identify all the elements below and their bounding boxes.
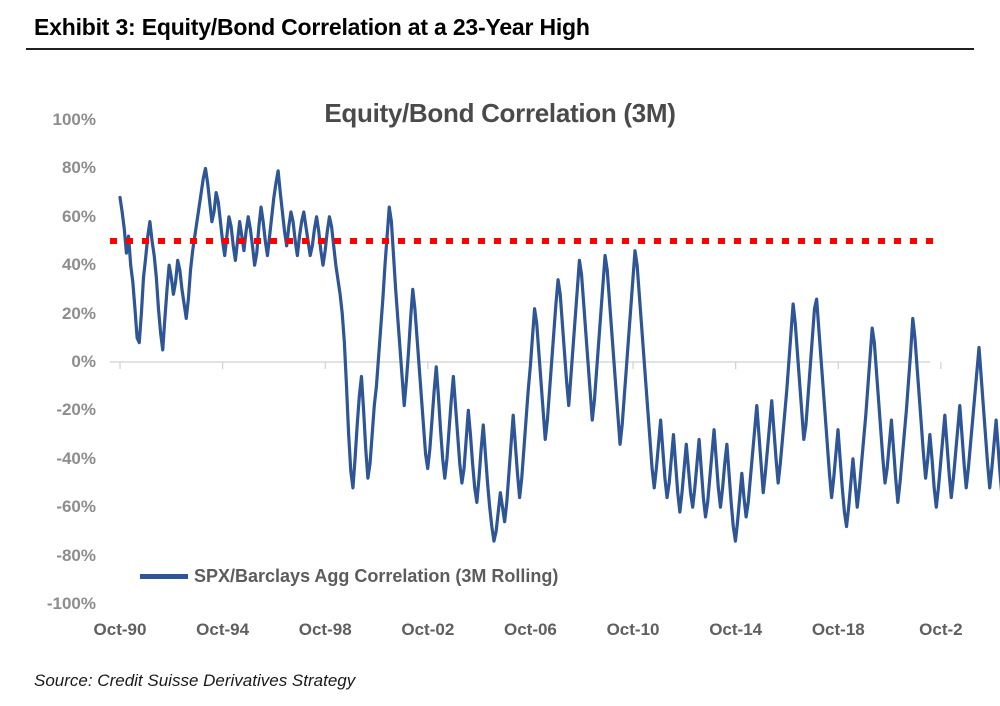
legend-label-spx: SPX/Barclays Agg Correlation (3M Rolling… (194, 566, 558, 587)
chart-legend: SPX/Barclays Agg Correlation (3M Rolling… (140, 566, 558, 587)
exhibit-title: Exhibit 3: Equity/Bond Correlation at a … (34, 14, 590, 41)
legend-swatch-spx (140, 574, 188, 579)
chart-container: Equity/Bond Correlation (3M) 100%80%60%4… (0, 58, 1000, 648)
title-divider (26, 48, 974, 50)
source-note: Source: Credit Suisse Derivatives Strate… (34, 671, 355, 691)
series-line-spx-barclays-correlation (120, 168, 1000, 541)
plot-svg (0, 58, 1000, 648)
